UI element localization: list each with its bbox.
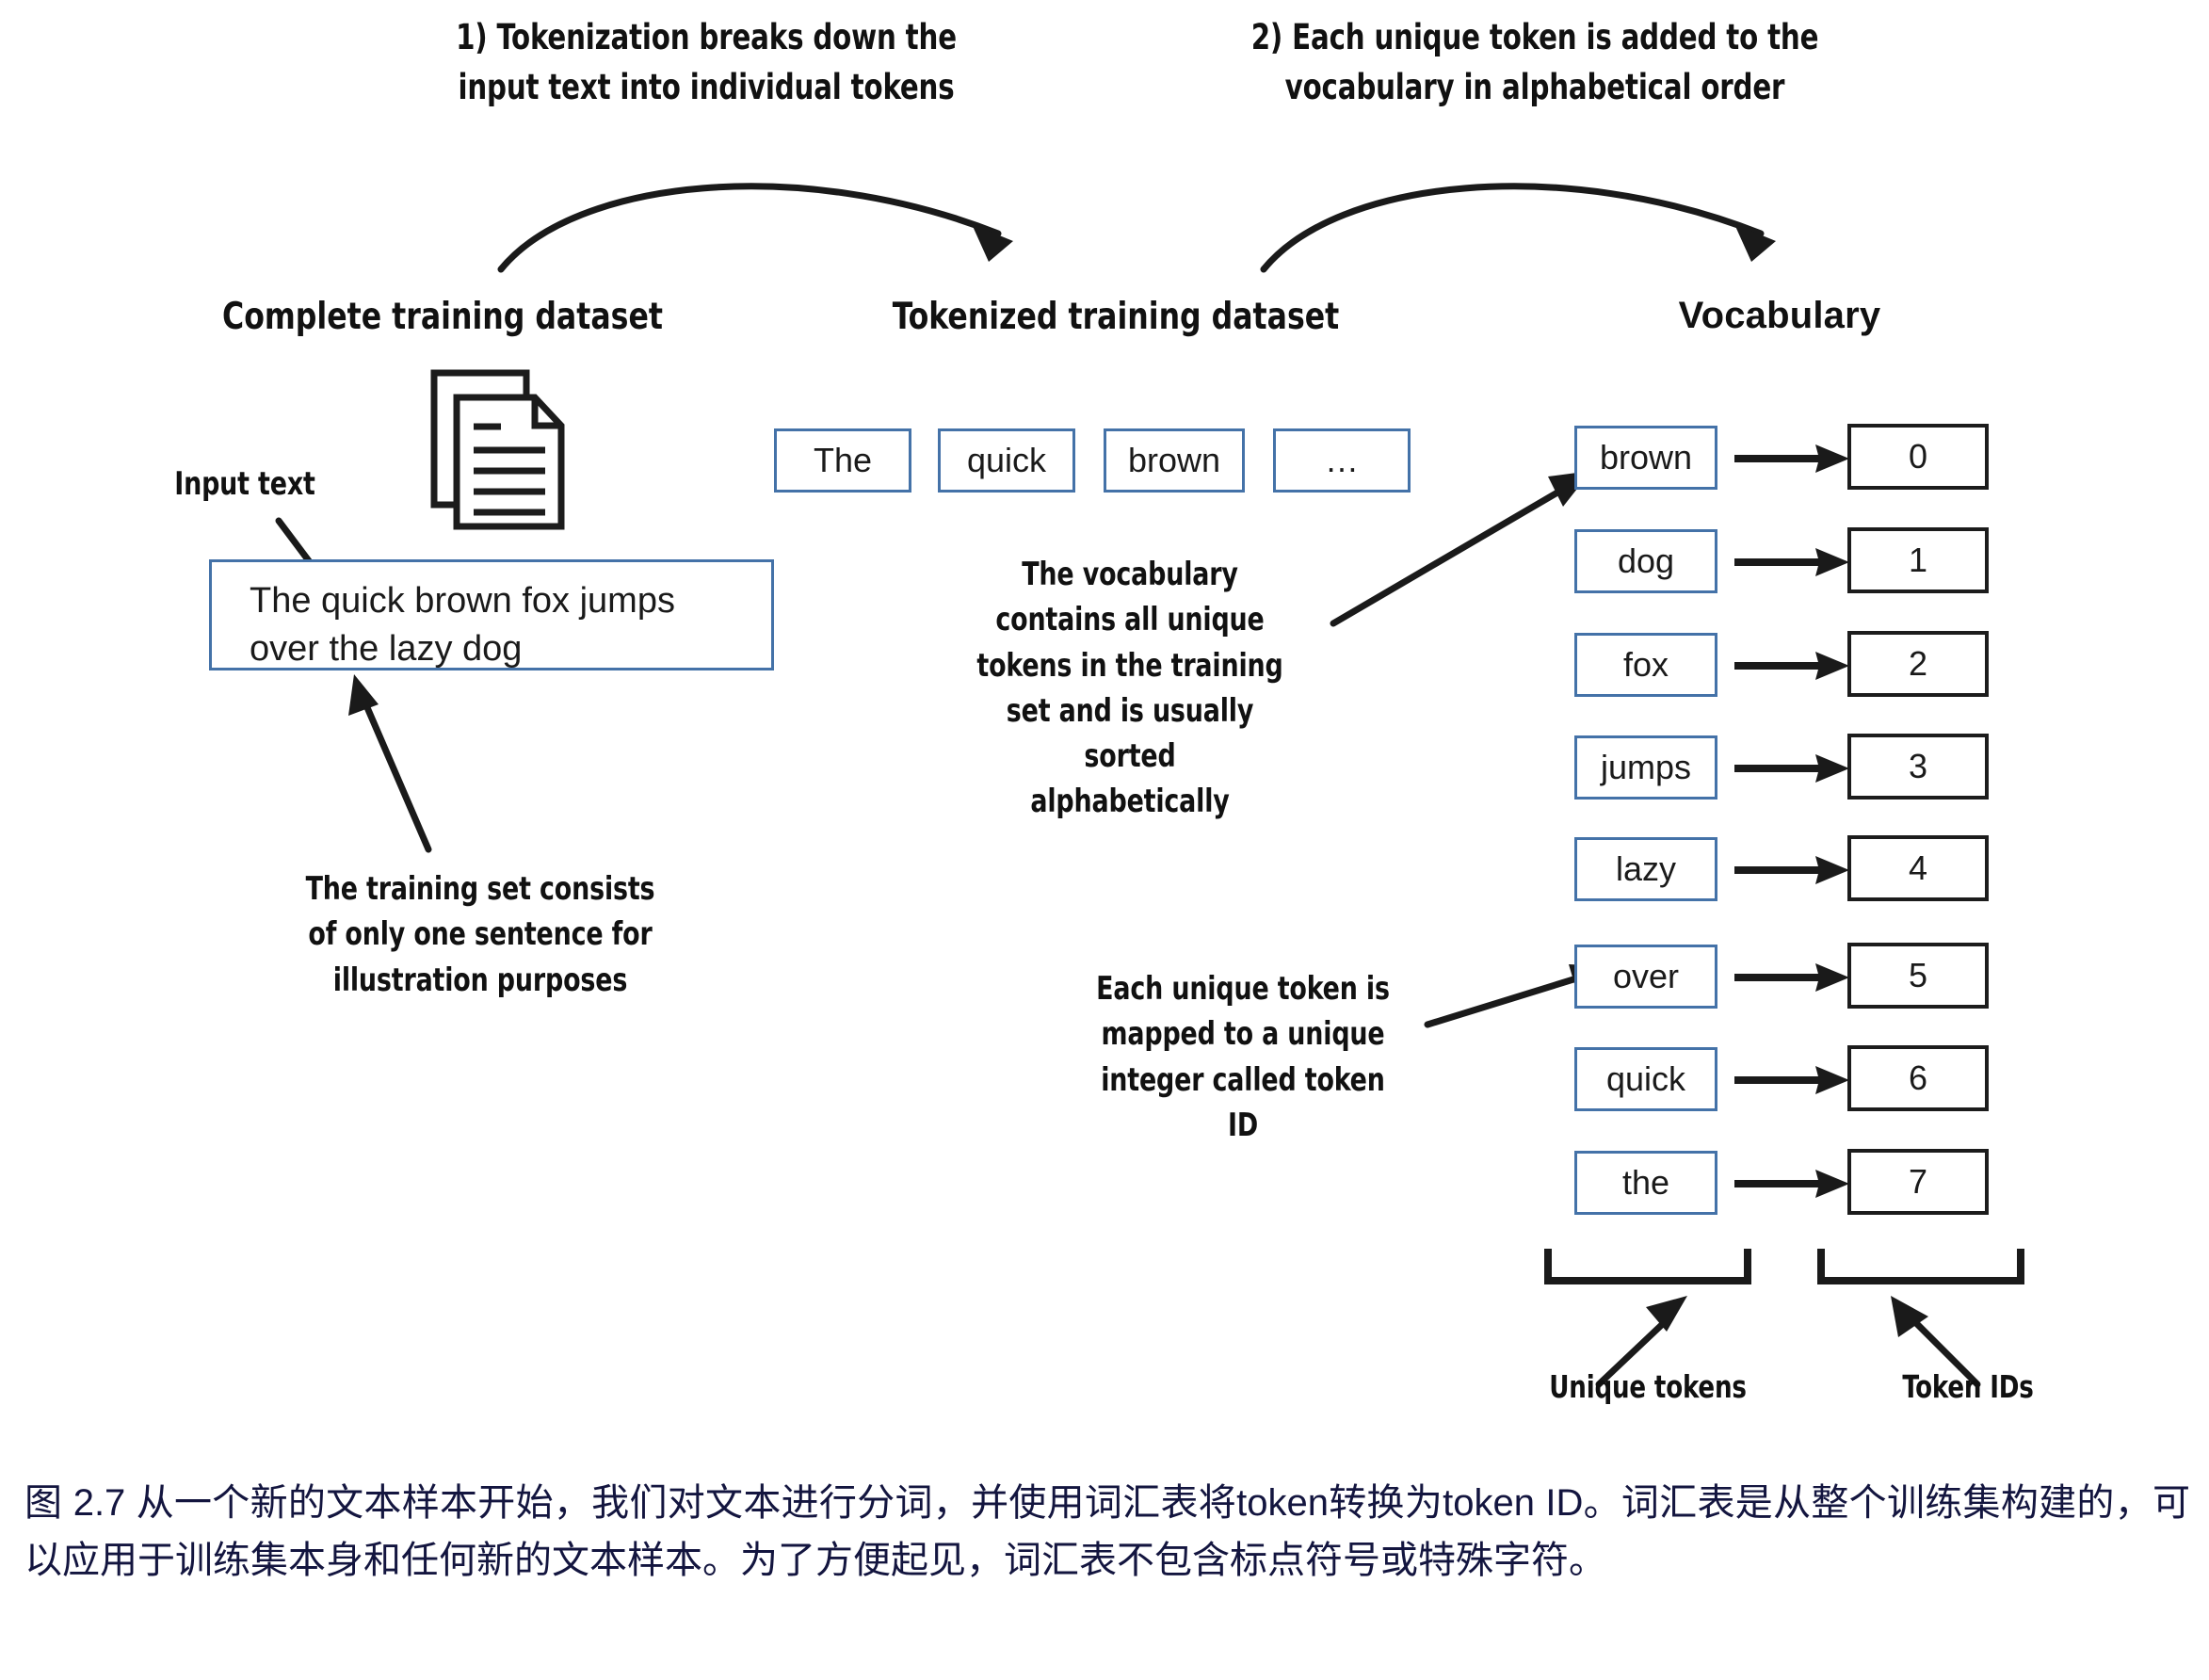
figure-canvas: 1) Tokenization breaks down the input te…: [0, 0, 2209, 1680]
vocab-map-arrow-icon: [1733, 546, 1853, 578]
token-id-box: 3: [1847, 734, 1989, 800]
training-note-line-1: The training set consists: [273, 866, 687, 912]
vocab-token-box: the: [1574, 1151, 1717, 1215]
training-note-line-3: illustration purposes: [273, 958, 687, 1003]
token-id-label: 7: [1909, 1162, 1927, 1202]
vocab-map-arrow-icon: [1733, 752, 1853, 784]
section-title-vocabulary: Vocabulary: [1516, 295, 2043, 337]
vocab-map-arrow-icon: [1733, 1168, 1853, 1200]
vocab-token-box: quick: [1574, 1047, 1717, 1111]
vocab-token-box: dog: [1574, 529, 1717, 593]
step-1-arrow-icon: [490, 151, 1055, 273]
vocab-token-box: fox: [1574, 633, 1717, 697]
token-label: quick: [967, 441, 1046, 480]
token-id-label: 2: [1909, 644, 1927, 684]
token-id-note: Each unique token is mapped to a unique …: [1077, 966, 1409, 1148]
step-2-arrow-icon: [1252, 151, 1817, 273]
token-id-box: 1: [1847, 527, 1989, 593]
token-id-box: 7: [1847, 1149, 1989, 1215]
token-box: The: [774, 428, 911, 493]
tokenid-note-line-3: integer called token: [1077, 1058, 1409, 1103]
token-id-box: 0: [1847, 424, 1989, 490]
step-2-heading: 2) Each unique token is added to the voc…: [1245, 13, 1825, 112]
vocab-note-line-5: sorted: [956, 734, 1304, 779]
figure-caption: 图 2.7 从一个新的文本样本开始，我们对文本进行分词，并使用词汇表将token…: [24, 1475, 2190, 1590]
vocab-token-label: jumps: [1601, 748, 1691, 787]
vocab-map-arrow-icon: [1733, 1064, 1853, 1096]
vocab-token-label: the: [1622, 1163, 1669, 1203]
input-text-box: The quick brown fox jumps over the lazy …: [209, 559, 774, 670]
token-id-box: 6: [1847, 1045, 1989, 1111]
token-box: quick: [938, 428, 1075, 493]
vocab-token-box: brown: [1574, 426, 1717, 490]
vocab-token-label: lazy: [1616, 849, 1676, 889]
step-1-line-2: input text into individual tokens: [416, 63, 996, 113]
vocab-map-arrow-icon: [1733, 650, 1853, 682]
vocab-token-label: brown: [1600, 438, 1692, 477]
vocab-token-label: quick: [1606, 1059, 1685, 1099]
token-id-label: 0: [1909, 437, 1927, 477]
input-text-label: Input text: [137, 461, 353, 507]
token-box: brown: [1104, 428, 1245, 493]
token-id-label: 3: [1909, 747, 1927, 786]
unique-tokens-bracket-label: Unique tokens: [1474, 1365, 1822, 1410]
vocab-map-arrow-icon: [1733, 443, 1853, 475]
vocab-token-box: over: [1574, 945, 1717, 1009]
training-set-note: The training set consists of only one se…: [273, 866, 687, 1003]
vocabulary-note: The vocabulary contains all unique token…: [956, 552, 1304, 825]
vocab-note-line-2: contains all unique: [956, 597, 1304, 642]
token-id-box: 2: [1847, 631, 1989, 697]
tokenid-note-line-4: ID: [1077, 1103, 1409, 1148]
token-label: The: [814, 441, 872, 480]
step-1-heading: 1) Tokenization breaks down the input te…: [416, 13, 996, 112]
token-id-label: 4: [1909, 848, 1927, 888]
input-text-line-1: The quick brown fox jumps: [250, 577, 771, 625]
vocab-token-label: dog: [1618, 541, 1674, 581]
unique-tokens-bracket-icon: [1544, 1245, 1751, 1292]
step-2-line-1: 2) Each unique token is added to the: [1245, 13, 1825, 63]
vocab-note-line-3: tokens in the training: [956, 643, 1304, 688]
step-1-line-1: 1) Tokenization breaks down the: [416, 13, 996, 63]
vocab-note-line-4: set and is usually: [956, 688, 1304, 734]
vocab-token-box: jumps: [1574, 735, 1717, 800]
token-id-box: 4: [1847, 835, 1989, 901]
vocab-note-line-1: The vocabulary: [956, 552, 1304, 597]
vocab-token-box: lazy: [1574, 837, 1717, 901]
token-id-label: 5: [1909, 956, 1927, 995]
vocab-map-arrow-icon: [1733, 854, 1853, 886]
tokenid-note-line-2: mapped to a unique: [1077, 1011, 1409, 1057]
token-id-box: 5: [1847, 943, 1989, 1009]
vocab-token-label: over: [1613, 957, 1679, 996]
vocab-map-arrow-icon: [1733, 961, 1853, 993]
documents-icon: [428, 367, 565, 532]
vocab-note-line-6: alphabetically: [956, 779, 1304, 824]
token-id-label: 6: [1909, 1058, 1927, 1098]
training-note-line-2: of only one sentence for: [273, 912, 687, 957]
tokenid-note-line-1: Each unique token is: [1077, 966, 1409, 1011]
training-note-arrow-icon: [330, 670, 452, 859]
token-id-label: 1: [1909, 541, 1927, 580]
token-ids-bracket-label: Token IDs: [1811, 1365, 2125, 1410]
input-text-line-2: over the lazy dog: [250, 625, 771, 673]
section-title-complete-dataset: Complete training dataset: [180, 296, 705, 338]
vocab-token-label: fox: [1623, 645, 1669, 685]
section-title-tokenized-dataset: Tokenized training dataset: [841, 296, 1392, 338]
token-ids-bracket-icon: [1817, 1245, 2024, 1292]
token-label: brown: [1128, 441, 1220, 480]
vocabulary-note-arrow-icon: [1326, 461, 1599, 631]
step-2-line-2: vocabulary in alphabetical order: [1245, 63, 1825, 113]
